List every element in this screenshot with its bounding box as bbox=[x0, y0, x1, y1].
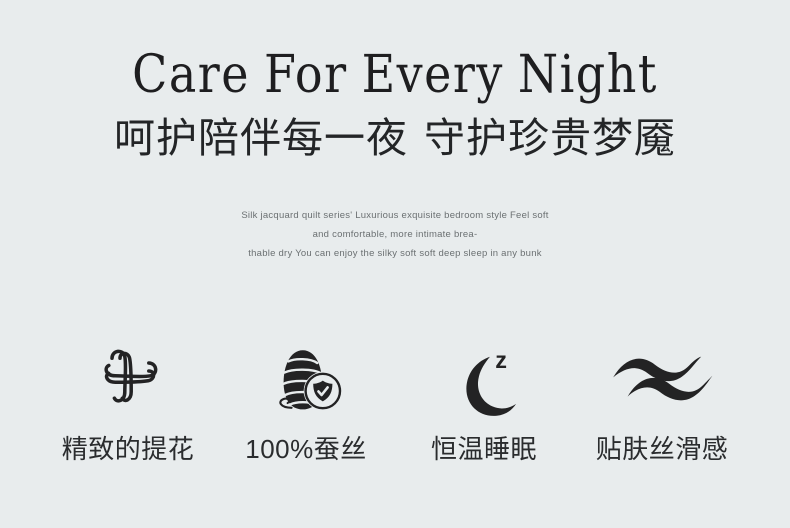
headline-word-1: Care bbox=[132, 44, 250, 103]
silk-quilt-feature-banner: CareForEveryNight 呵护陪伴每一夜守护珍贵梦魇 Silk jac… bbox=[0, 0, 790, 528]
description-paragraph: Silk jacquard quilt series' Luxurious ex… bbox=[0, 206, 790, 263]
feature-item-jacquard: 精致的提花 bbox=[40, 336, 216, 466]
headline-english: CareForEveryNight bbox=[0, 44, 790, 106]
description-line-2: and comfortable, more intimate brea- bbox=[0, 225, 790, 244]
silk-waves-icon bbox=[610, 336, 714, 422]
headline-chinese-right: 守护珍贵梦魇 bbox=[424, 115, 676, 161]
feature-item-silk: 100%蚕丝 bbox=[218, 336, 394, 466]
headline-word-3: Every bbox=[362, 44, 504, 103]
description-line-1: Silk jacquard quilt series' Luxurious ex… bbox=[0, 206, 790, 225]
svg-text:z: z bbox=[495, 347, 507, 373]
feature-item-smooth: 贴肤丝滑感 bbox=[574, 336, 750, 466]
feature-label-silk: 100%蚕丝 bbox=[245, 432, 367, 466]
silkworm-cocoon-shield-icon bbox=[264, 336, 348, 422]
headline-word-2: For bbox=[264, 44, 348, 103]
feature-label-jacquard: 精致的提花 bbox=[62, 432, 195, 466]
description-line-3: thable dry You can enjoy the silky soft … bbox=[0, 244, 790, 263]
headline-chinese-left: 呵护陪伴每一夜 bbox=[114, 115, 408, 161]
feature-label-sleep: 恒温睡眠 bbox=[431, 432, 537, 466]
feature-label-smooth: 贴肤丝滑感 bbox=[596, 432, 729, 466]
feature-item-sleep: z 恒温睡眠 bbox=[396, 336, 572, 466]
crescent-moon-sleep-icon: z bbox=[444, 336, 524, 422]
feature-list: 精致的提花 bbox=[40, 336, 750, 466]
woven-jacquard-knot-icon bbox=[85, 336, 171, 422]
headline-chinese: 呵护陪伴每一夜守护珍贵梦魇 bbox=[0, 112, 790, 164]
headline-word-4: Night bbox=[518, 44, 658, 103]
